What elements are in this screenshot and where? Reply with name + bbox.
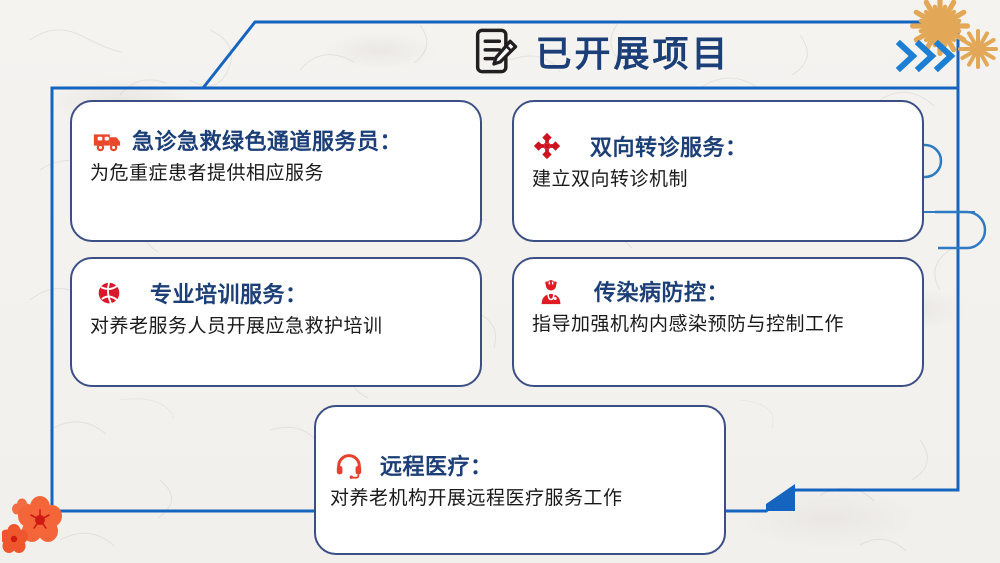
card-title: 急诊急救绿色通道服务员： bbox=[132, 124, 402, 156]
card-telemedicine[interactable]: 远程医疗： 对养老机构开展远程医疗服务工作 bbox=[314, 405, 726, 555]
card-title: 双向转诊服务： bbox=[590, 130, 748, 162]
card-title: 远程医疗： bbox=[380, 449, 493, 481]
card-title: 传染病防控： bbox=[594, 275, 729, 307]
card-description: 建立双向转诊机制 bbox=[532, 164, 908, 191]
card-professional-training[interactable]: 专业培训服务： 对养老服务人员开展应急救护培训 bbox=[70, 257, 482, 387]
slide-canvas: 已开展项目 bbox=[0, 0, 1000, 563]
headset-icon bbox=[334, 450, 364, 480]
card-infection-control[interactable]: 传染病防控： 指导加强机构内感染预防与控制工作 bbox=[512, 257, 924, 387]
card-description: 指导加强机构内感染预防与控制工作 bbox=[532, 309, 908, 336]
ambulance-icon bbox=[92, 125, 122, 155]
card-title: 专业培训服务： bbox=[150, 277, 308, 309]
card-description: 为危重症患者提供相应服务 bbox=[90, 158, 466, 185]
card-emergency-green-channel[interactable]: 急诊急救绿色通道服务员： 为危重症患者提供相应服务 bbox=[70, 100, 482, 242]
card-two-way-referral[interactable]: 双向转诊服务： 建立双向转诊机制 bbox=[512, 100, 924, 242]
medical-cross-flower-icon bbox=[532, 131, 562, 161]
card-description: 对养老服务人员开展应急救护培训 bbox=[90, 311, 466, 338]
training-ball-icon bbox=[94, 278, 124, 308]
doctor-icon bbox=[536, 276, 566, 306]
card-list: 急诊急救绿色通道服务员： 为危重症患者提供相应服务 bbox=[0, 0, 1000, 563]
card-description: 对养老机构开展远程医疗服务工作 bbox=[330, 483, 710, 510]
